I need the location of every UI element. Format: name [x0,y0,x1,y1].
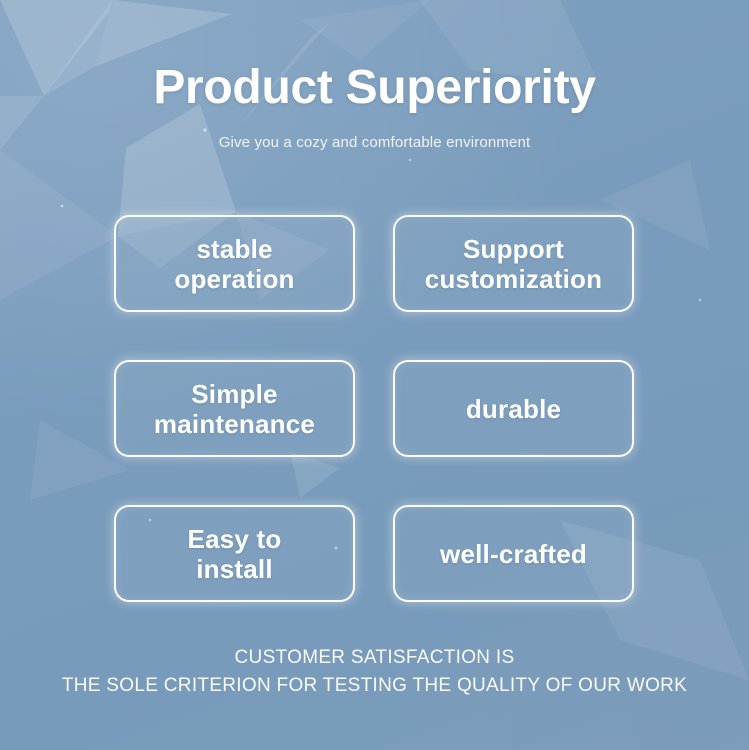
poster-header: Product Superiority Give you a cozy and … [0,58,749,153]
footer-slogan: CUSTOMER SATISFACTION IS THE SOLE CRITER… [0,644,749,700]
feature-card-label: durable [466,394,561,424]
feature-card-support-customization[interactable]: Support customization [393,215,634,312]
feature-card-label: well-crafted [440,539,587,569]
page-title: Product Superiority [0,58,749,118]
footer-slogan-line-1: CUSTOMER SATISFACTION IS [0,644,749,672]
feature-card-durable[interactable]: durable [393,360,634,457]
page-subtitle: Give you a cozy and comfortable environm… [0,133,749,153]
feature-card-easy-to-install[interactable]: Easy to install [114,505,355,602]
feature-card-label: stable operation [174,234,294,294]
feature-card-label: Simple maintenance [154,379,315,439]
feature-card-simple-maintenance[interactable]: Simple maintenance [114,360,355,457]
feature-card-grid: stable operation Support customization S… [114,215,634,602]
feature-card-label: Support customization [425,234,602,294]
product-superiority-poster: Product Superiority Give you a cozy and … [0,0,749,750]
footer-slogan-line-2: THE SOLE CRITERION FOR TESTING THE QUALI… [0,672,749,700]
feature-card-label: Easy to install [188,524,282,584]
feature-card-stable-operation[interactable]: stable operation [114,215,355,312]
feature-card-well-crafted[interactable]: well-crafted [393,505,634,602]
